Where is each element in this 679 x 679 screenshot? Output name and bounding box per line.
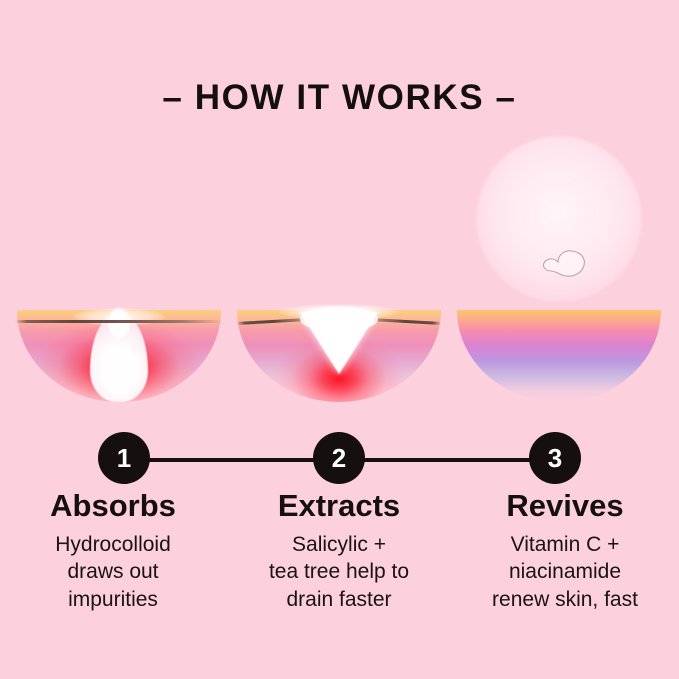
step-description-3: Vitamin C + niacinamide renew skin, fast <box>452 531 678 614</box>
step-marker-3: 3 <box>529 432 581 484</box>
skin-tissue-layer-healthy <box>457 310 661 402</box>
step-caption-3: Revives Vitamin C + niacinamide renew sk… <box>452 488 678 614</box>
skin-cross-section-3 <box>457 310 661 402</box>
surface-sheen <box>279 304 399 320</box>
step-description-1: Hydrocolloid draws out impurities <box>0 531 226 614</box>
steps-timeline: 1 2 3 <box>0 432 679 488</box>
extraction-cone-icon <box>300 312 378 374</box>
step-caption-2: Extracts Salicylic + tea tree help to dr… <box>226 488 452 614</box>
step-heading-3: Revives <box>452 488 678 524</box>
illustration-revives <box>446 130 672 410</box>
illustration-extracts <box>226 130 452 410</box>
step-description-2: Salicylic + tea tree help to drain faste… <box>226 531 452 614</box>
page-title: – HOW IT WORKS – <box>0 78 679 118</box>
step-heading-1: Absorbs <box>0 488 226 524</box>
skin-surface-bar <box>15 320 223 323</box>
skin-surface-line-1 <box>15 318 223 325</box>
step-marker-1: 1 <box>98 432 150 484</box>
step-caption-1: Absorbs Hydrocolloid draws out impuritie… <box>0 488 226 614</box>
extracted-impurity-icon <box>535 241 593 283</box>
illustration-band <box>0 130 679 410</box>
steps-captions: Absorbs Hydrocolloid draws out impuritie… <box>0 488 679 614</box>
step-marker-2: 2 <box>313 432 365 484</box>
illustration-absorbs <box>6 130 232 410</box>
step-heading-2: Extracts <box>226 488 452 524</box>
